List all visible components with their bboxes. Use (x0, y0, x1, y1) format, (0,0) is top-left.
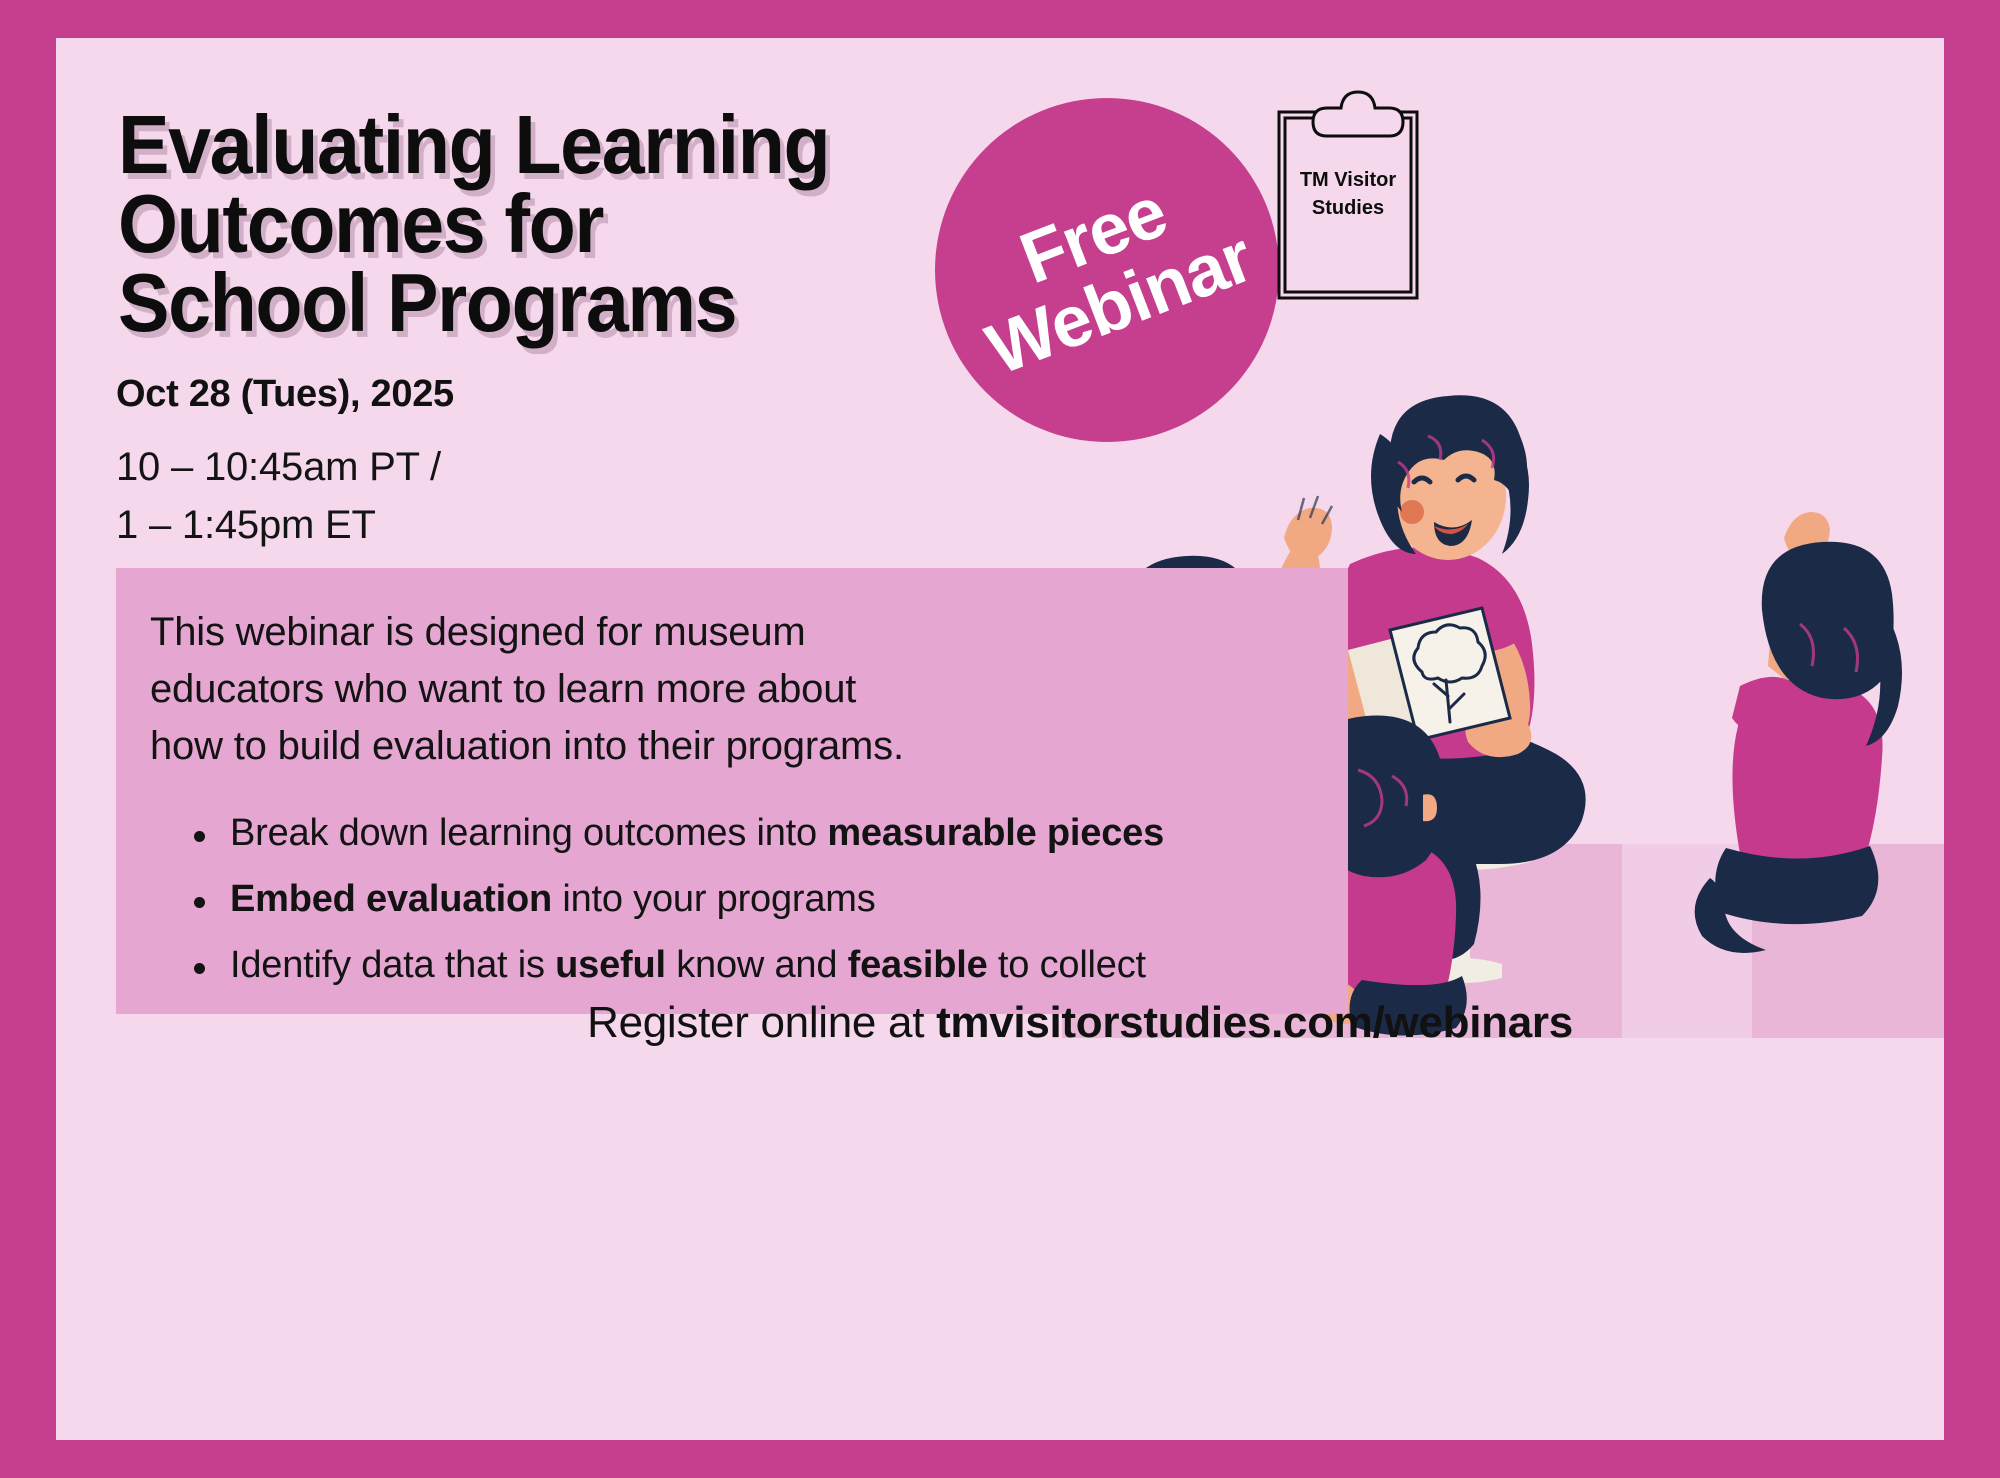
bullet-3-post: to collect (988, 944, 1146, 986)
time-et: 1 – 1:45pm ET (116, 496, 441, 554)
bullet-2-bold: Embed evaluation (230, 878, 552, 920)
webinar-flyer: Evaluating Learning Outcomes for School … (0, 0, 2000, 1478)
event-date: Oct 28 (Tues), 2025 (116, 373, 454, 416)
logo-line-1: TM Visitor (1300, 169, 1397, 191)
bullet-1-pre: Break down learning outcomes into (230, 812, 827, 854)
bullet-3-mid: know and (666, 944, 848, 986)
description-box: This webinar is designed for museum educ… (116, 568, 1348, 1014)
bullet-1-bold: measurable pieces (827, 812, 1164, 854)
stool (1389, 807, 1545, 983)
tm-visitor-studies-logo: TM Visitor Studies (1273, 86, 1423, 301)
bullet-3-bold-2: feasible (848, 944, 988, 986)
register-line: Register online at tmvisitorstudies.com/… (56, 998, 1944, 1048)
register-prefix: Register online at (587, 998, 936, 1047)
title-line-3: School Programs (118, 264, 881, 343)
child-right (1695, 512, 1902, 953)
title-line-2: Outcomes for (118, 185, 881, 264)
bullet-3-bold: useful (555, 944, 666, 986)
list-item: Identify data that is useful know and fe… (190, 946, 1318, 984)
takeaways-list: Break down learning outcomes into measur… (116, 814, 1348, 984)
logo-line-2: Studies (1312, 197, 1384, 219)
bullet-3-pre: Identify data that is (230, 944, 555, 986)
description-line-2: educators who want to learn more about (150, 661, 1304, 718)
page-title: Evaluating Learning Outcomes for School … (118, 106, 881, 343)
description-line-3: how to build evaluation into their progr… (150, 718, 1304, 775)
event-times: 10 – 10:45am PT / 1 – 1:45pm ET (116, 438, 441, 554)
register-url[interactable]: tmvisitorstudies.com/webinars (936, 998, 1573, 1047)
free-webinar-badge: Free Webinar (935, 98, 1279, 442)
list-item: Embed evaluation into your programs (190, 880, 1318, 918)
description-text: This webinar is designed for museum educ… (116, 604, 1348, 774)
list-item: Break down learning outcomes into measur… (190, 814, 1318, 852)
clipboard-icon (1279, 92, 1417, 298)
flyer-inner-panel: Evaluating Learning Outcomes for School … (56, 38, 1944, 1440)
free-webinar-badge-text: Free Webinar (952, 152, 1262, 388)
bullet-2-post: into your programs (552, 878, 876, 920)
description-line-1: This webinar is designed for museum (150, 604, 1304, 661)
title-line-1: Evaluating Learning (118, 106, 881, 185)
time-pt: 10 – 10:45am PT / (116, 438, 441, 496)
